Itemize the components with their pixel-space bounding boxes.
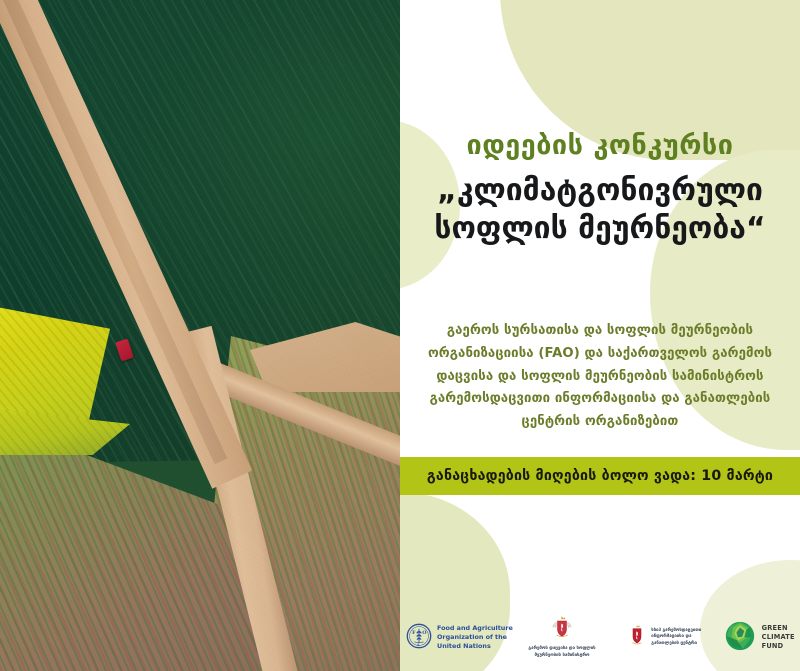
poster-root: იდეების კონკურსი „კლიმატგონივრული სოფლის… <box>0 0 800 671</box>
svg-text:O: O <box>422 630 427 636</box>
gcf-line2: CLIMATE <box>762 633 795 642</box>
ministry-caption: გარემოს დაცვისა და სოფლის მეურნეობის სამ… <box>528 646 595 658</box>
poster-subtitle-heading: იდეების კონკურსი <box>400 130 800 161</box>
ministry-logo: გარემოს დაცვისა და სოფლის მეურნეობის სამ… <box>513 616 611 658</box>
page-title: „კლიმატგონივრული სოფლის მეურნეობა“ <box>414 172 786 249</box>
fao-text-line2: Organization of the <box>437 633 513 642</box>
fao-text-line3: United Nations <box>437 642 513 651</box>
svg-text:F: F <box>412 630 416 636</box>
gcf-globe-icon <box>723 619 757 657</box>
ministry-caption-line2: მეურნეობის სამინისტრო <box>528 653 595 659</box>
ministry-caption-line1: გარემოს დაცვისა და სოფლის <box>528 646 595 652</box>
gcf-line1: GREEN <box>762 624 795 633</box>
gcf-line3: FUND <box>762 642 795 651</box>
georgia-emblem-small-icon <box>627 624 647 652</box>
organizers-description: გაეროს სურსათისა და სოფლის მეურნეობის ორ… <box>410 320 790 434</box>
logo-bar: F O A Food and Agriculture Organization … <box>400 604 800 671</box>
deadline-text: განაცხადების მიღების ბოლო ვადა: 10 მარტი <box>427 468 773 484</box>
eiec-caption: სსიპ გარემოსდაცვითი ინფორმაციისა და განა… <box>651 628 701 647</box>
deadline-banner: განაცხადების მიღების ბოლო ვადა: 10 მარტი <box>400 457 800 495</box>
fao-emblem-icon: F O A <box>406 623 432 653</box>
svg-text:A: A <box>416 643 420 647</box>
georgia-coat-of-arms-icon <box>548 616 576 644</box>
aerial-farmland-photo <box>0 0 400 671</box>
fao-text-line1: Food and Agriculture <box>437 624 513 633</box>
gcf-wordmark: GREEN CLIMATE FUND <box>762 624 795 651</box>
fao-logo: F O A Food and Agriculture Organization … <box>400 623 513 653</box>
green-climate-fund-logo: GREEN CLIMATE FUND <box>717 619 800 657</box>
eiec-logo: სსიპ გარემოსდაცვითი ინფორმაციისა და განა… <box>611 624 717 652</box>
content-panel: იდეების კონკურსი „კლიმატგონივრული სოფლის… <box>400 0 800 671</box>
eiec-caption-line3: განათლების ცენტრი <box>651 641 701 647</box>
fao-logo-text: Food and Agriculture Organization of the… <box>437 624 513 652</box>
